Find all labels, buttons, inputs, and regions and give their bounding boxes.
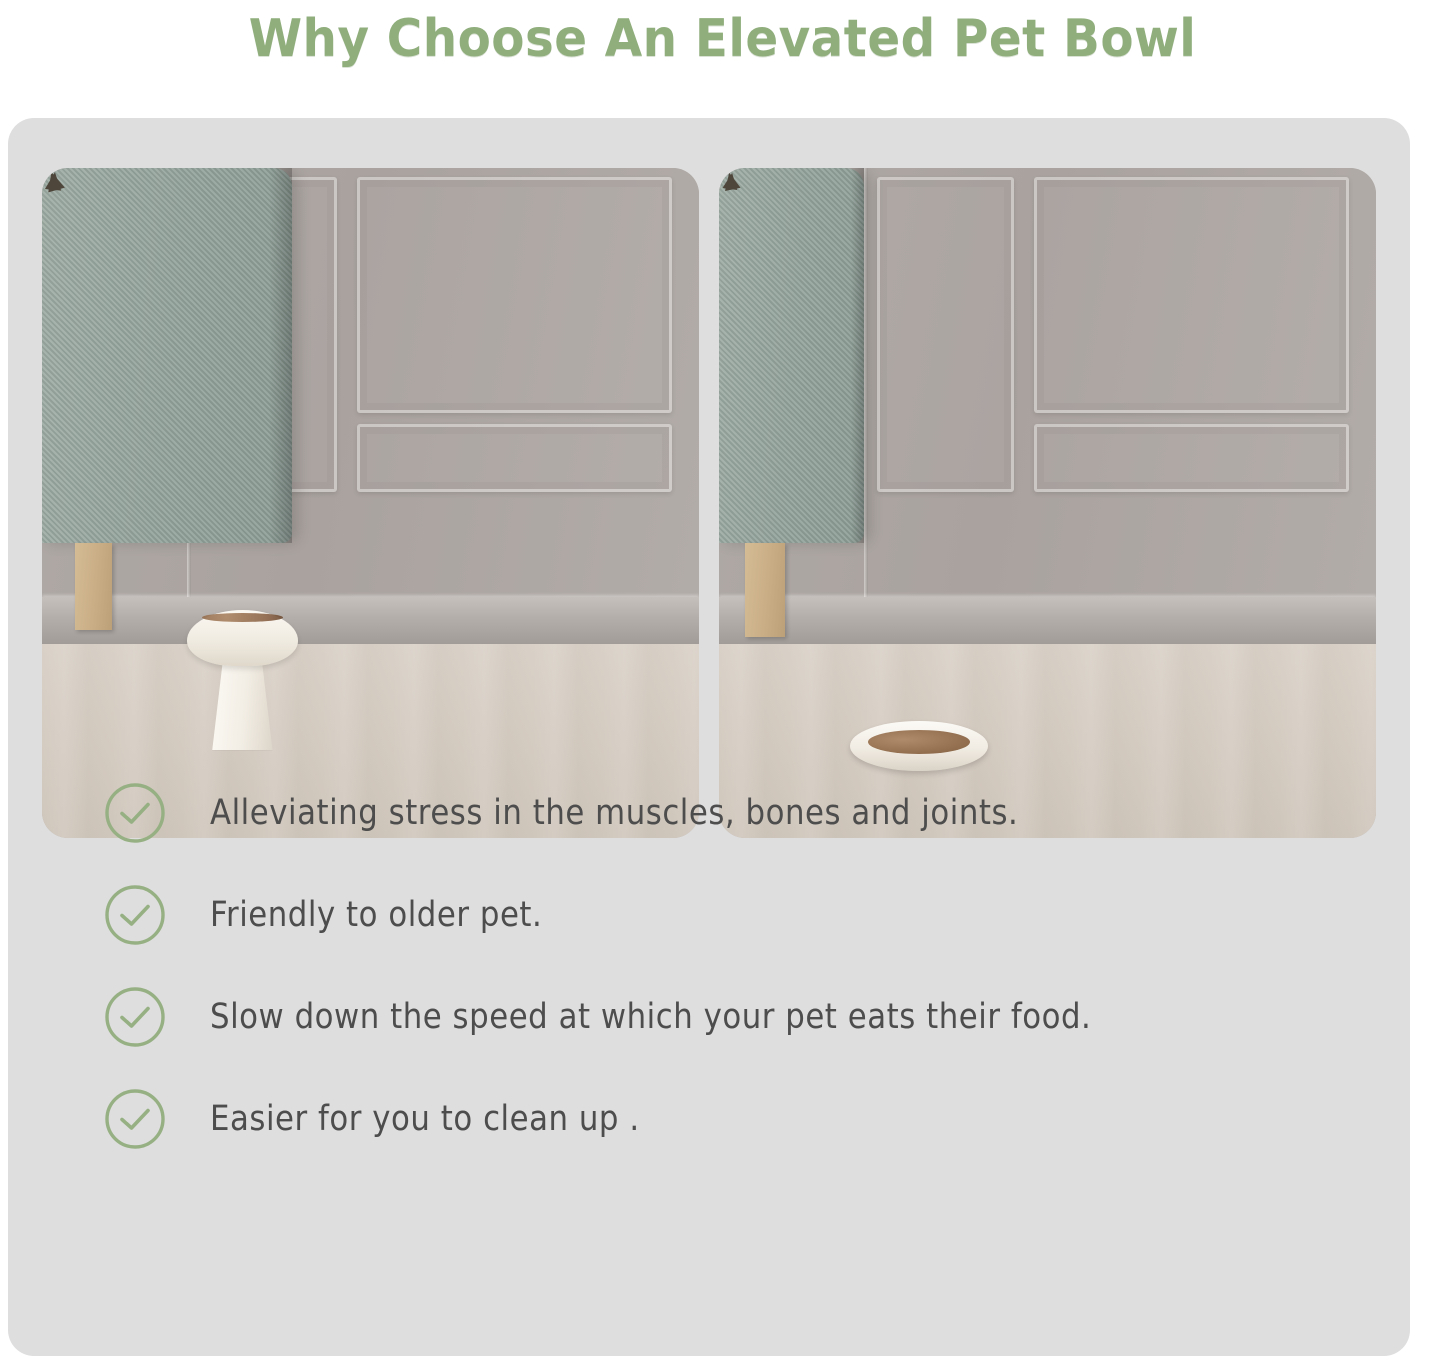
sofa-fabric [42, 168, 292, 543]
photo-row [42, 168, 1376, 838]
elevated-bowl-photo [42, 168, 699, 838]
benefit-item: Alleviating stress in the muscles, bones… [0, 762, 1445, 864]
wall-seam [864, 168, 868, 610]
benefit-item: Friendly to older pet. [0, 864, 1445, 966]
wall-panel [1034, 177, 1349, 413]
sofa-wooden-leg [75, 543, 112, 630]
baseboard [719, 597, 1376, 651]
wall-panel [357, 177, 672, 413]
sofa-wooden-leg [745, 543, 784, 637]
cat-ear [45, 171, 63, 190]
pet-food [202, 613, 282, 622]
page-title: Why Choose An Elevated Pet Bowl [51, 0, 1395, 78]
benefit-label: Friendly to older pet. [210, 895, 542, 935]
wall-panel [357, 424, 672, 492]
benefit-item: Slow down the speed at which your pet ea… [0, 966, 1445, 1068]
floor-bowl-photo [719, 168, 1376, 838]
benefit-label: Slow down the speed at which your pet ea… [210, 997, 1091, 1037]
baseboard [42, 597, 699, 651]
benefit-label: Easier for you to clean up . [210, 1099, 640, 1139]
check-circle-icon [104, 884, 166, 946]
cat-ear [723, 172, 740, 190]
benefit-label: Alleviating stress in the muscles, bones… [210, 793, 1018, 833]
bowl-dish [187, 610, 299, 666]
benefits-list: Alleviating stress in the muscles, bones… [0, 762, 1445, 1170]
wall-panel [877, 177, 1014, 493]
comparison-card [8, 118, 1410, 1356]
wall-panel [1034, 424, 1349, 492]
check-circle-icon [104, 986, 166, 1048]
check-circle-icon [104, 1088, 166, 1150]
check-circle-icon [104, 782, 166, 844]
sofa-edge-shadow [269, 168, 291, 543]
bowl-pedestal-stem [212, 659, 272, 750]
sofa-edge-shadow [851, 168, 864, 543]
elevated-pedestal-bowl [187, 610, 299, 757]
benefit-item: Easier for you to clean up . [0, 1068, 1445, 1170]
pet-food [868, 730, 970, 754]
sofa-fabric [719, 168, 864, 543]
